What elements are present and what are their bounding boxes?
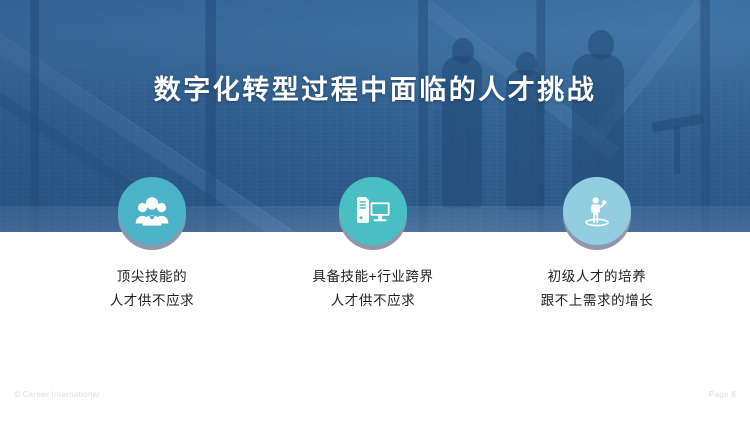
caption-line-2: 人才供不应求 <box>52 289 252 313</box>
feature-badge-2[interactable] <box>339 177 407 245</box>
desktop-computer-icon <box>356 196 390 226</box>
caption-line-1: 具备技能+行业跨界 <box>273 265 473 289</box>
feature-caption-3: 初级人才的培养 跟不上需求的增长 <box>497 265 697 312</box>
feature-caption-1: 顶尖技能的 人才供不应求 <box>52 265 252 312</box>
caption-line-2: 跟不上需求的增长 <box>497 289 697 313</box>
feature-badge-3[interactable] <box>563 177 631 245</box>
badge-disc-2 <box>339 177 407 245</box>
page-title: 数字化转型过程中面临的人才挑战 <box>0 74 750 106</box>
caption-line-1: 顶尖技能的 <box>52 265 252 289</box>
caption-line-1: 初级人才的培养 <box>497 265 697 289</box>
footer-page-number: Page 8 <box>709 390 736 399</box>
presentation-slide: 数字化转型过程中面临的人才挑战 <box>0 0 750 422</box>
footer-copyright: © Career International <box>14 390 99 399</box>
feature-badge-1[interactable] <box>118 177 186 245</box>
person-raised-hand-icon <box>581 195 613 227</box>
group-people-icon <box>135 196 169 226</box>
badge-disc-3 <box>563 177 631 245</box>
feature-caption-2: 具备技能+行业跨界 人才供不应求 <box>273 265 473 312</box>
caption-line-2: 人才供不应求 <box>273 289 473 313</box>
badge-disc-1 <box>118 177 186 245</box>
